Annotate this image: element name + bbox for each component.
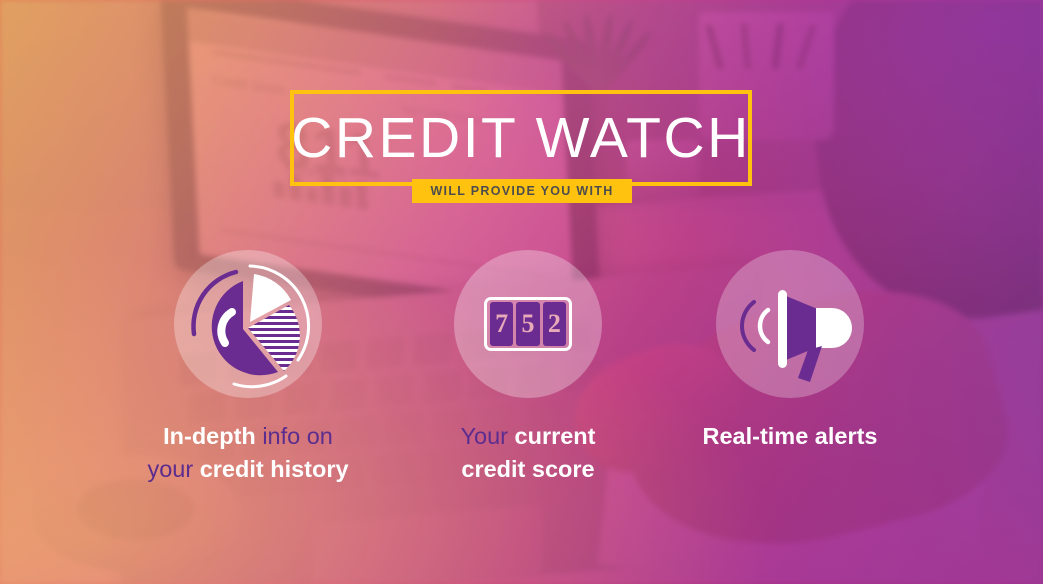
caption-seg: credit score bbox=[461, 456, 594, 482]
feature-item-credit-score[interactable]: 7 5 2 Your current credit score bbox=[378, 250, 678, 487]
feature-item-credit-history[interactable]: In-depth info on your credit history bbox=[98, 250, 398, 487]
pie-chart-svg bbox=[174, 250, 322, 398]
feature-icon-circle: 7 5 2 bbox=[454, 250, 602, 398]
feature-caption: In-depth info on your credit history bbox=[98, 420, 398, 487]
score-digit: 2 bbox=[543, 302, 566, 346]
credit-score-digits-icon: 7 5 2 bbox=[484, 297, 572, 351]
feature-caption: Your current credit score bbox=[378, 420, 678, 487]
slide-canvas: Credit Score Your Credit Score is 811 Ex… bbox=[0, 0, 1043, 584]
caption-seg: Real-time alerts bbox=[702, 423, 877, 449]
caption-seg: Your bbox=[461, 423, 515, 449]
subtitle-text: WILL PROVIDE YOU WITH bbox=[430, 184, 613, 198]
feature-icon-circle bbox=[716, 250, 864, 398]
subtitle-banner: WILL PROVIDE YOU WITH bbox=[412, 179, 632, 203]
feature-list: In-depth info on your credit history 7 5… bbox=[0, 250, 1043, 490]
caption-seg: current bbox=[515, 423, 596, 449]
feature-icon-circle bbox=[174, 250, 322, 398]
feature-caption: Real-time alerts bbox=[640, 420, 940, 453]
pie-chart-icon bbox=[174, 250, 322, 398]
score-digit: 5 bbox=[516, 302, 539, 346]
caption-seg: info on bbox=[262, 423, 333, 449]
slide-content: CREDIT WATCH WILL PROVIDE YOU WITH bbox=[0, 0, 1043, 584]
score-digit: 7 bbox=[490, 302, 513, 346]
caption-seg: credit history bbox=[200, 456, 349, 482]
page-title: CREDIT WATCH bbox=[290, 90, 752, 186]
megaphone-icon bbox=[716, 250, 864, 398]
feature-item-alerts[interactable]: Real-time alerts bbox=[640, 250, 940, 453]
caption-seg: In-depth bbox=[163, 423, 262, 449]
caption-seg: your bbox=[147, 456, 199, 482]
